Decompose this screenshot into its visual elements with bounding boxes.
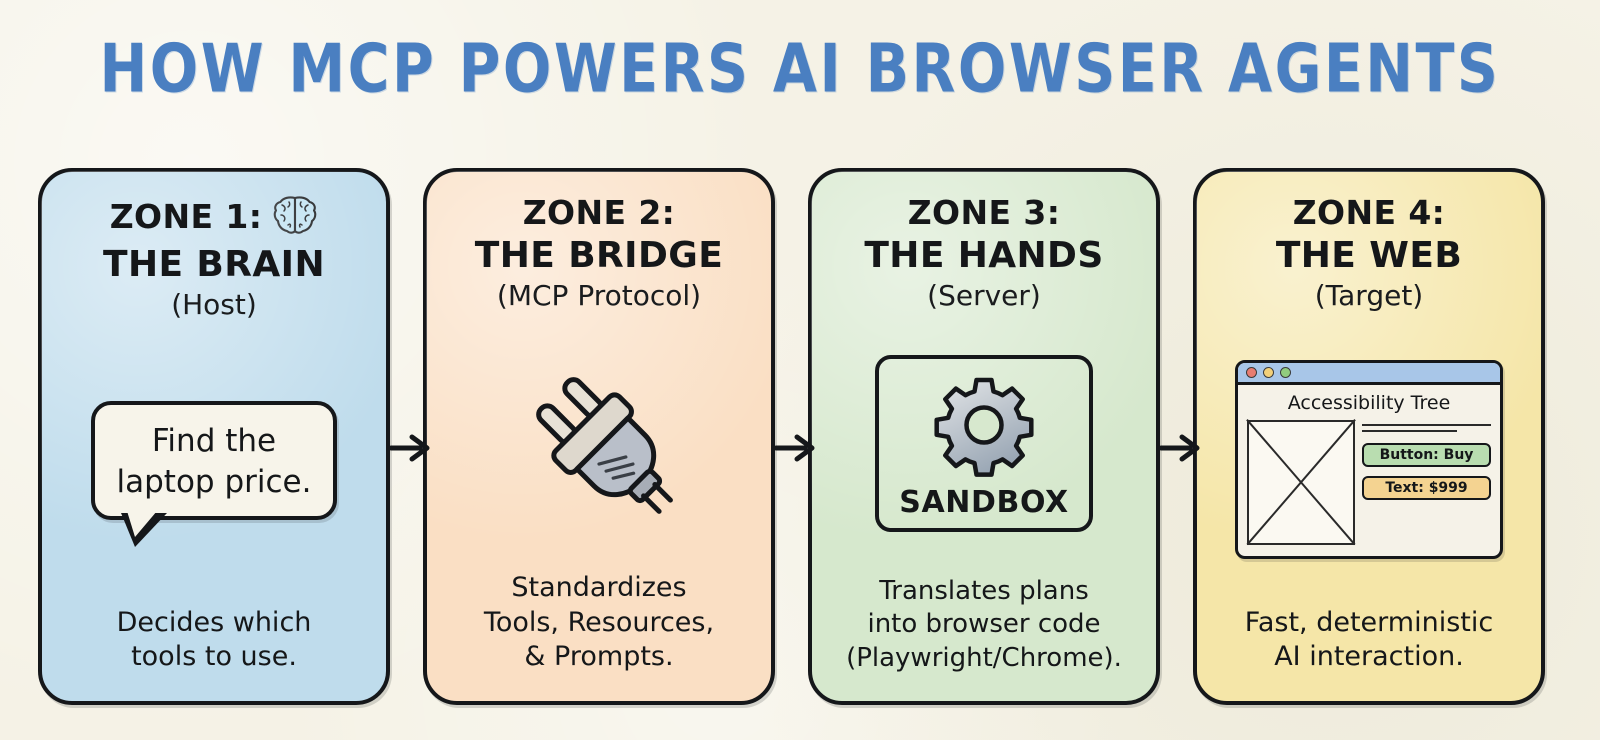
browser-content: Button: Buy Text: $999 — [1247, 420, 1491, 545]
browser-body: Accessibility Tree Button: Buy Text: $99… — [1238, 385, 1500, 556]
zone-4-head-label: ZONE 4: — [1293, 193, 1446, 232]
gear-icon — [932, 373, 1036, 481]
tree-line-2 — [1362, 430, 1457, 432]
zone-4-footer-line-2: AI interaction. — [1245, 640, 1493, 675]
zone-card-brain: ZONE 1: — [38, 168, 390, 705]
close-dot-icon[interactable] — [1246, 367, 1257, 378]
accessibility-tree-title: Accessibility Tree — [1247, 392, 1491, 414]
zone-1-head-label: ZONE 1: — [110, 197, 263, 236]
tree-annotations: Button: Buy Text: $999 — [1362, 420, 1491, 500]
zone-1-footer: Decides which tools to use. — [117, 606, 312, 687]
zone-3-heading: ZONE 3: THE HANDS — [864, 194, 1103, 277]
zone-2-footer: Standardizes Tools, Resources, & Prompts… — [484, 571, 714, 687]
zone-3-name-label: THE HANDS — [864, 235, 1103, 277]
zone-1-head-row: ZONE 1: — [110, 194, 319, 240]
tag-button-buy[interactable]: Button: Buy — [1362, 443, 1491, 467]
connector-bridge-to-hands — [775, 433, 815, 463]
bubble-line-2: laptop price. — [117, 462, 312, 502]
maximize-dot-icon[interactable] — [1280, 367, 1291, 378]
zone-3-footer-line-3: (Playwright/Chrome). — [846, 642, 1122, 675]
zone-1-name-label: THE BRAIN — [103, 244, 325, 286]
zone-2-illustration — [441, 312, 757, 571]
zone-3-subtitle: (Server) — [927, 279, 1041, 312]
minimize-dot-icon[interactable] — [1263, 367, 1274, 378]
zone-3-footer-line-2: into browser code — [846, 608, 1122, 641]
zone-4-illustration: Accessibility Tree Button: Buy Text: $99… — [1211, 312, 1527, 606]
zone-2-name-label: THE BRIDGE — [475, 235, 723, 277]
zone-1-footer-line-1: Decides which — [117, 606, 312, 641]
arrow-right-icon — [390, 433, 430, 463]
zone-2-subtitle: (MCP Protocol) — [497, 279, 701, 312]
zone-2-footer-line-3: & Prompts. — [484, 640, 714, 675]
sandbox-label: SANDBOX — [899, 485, 1068, 520]
zone-4-subtitle: (Target) — [1315, 279, 1423, 312]
brain-icon — [272, 194, 318, 240]
zone-1-heading: ZONE 1: — [110, 198, 263, 237]
zone-2-heading: ZONE 2: THE BRIDGE — [475, 194, 723, 277]
zone-1-subtitle: (Host) — [171, 288, 257, 321]
zone-4-footer-line-1: Fast, deterministic — [1245, 606, 1493, 641]
zone-2-footer-line-2: Tools, Resources, — [484, 606, 714, 641]
zone-3-footer: Translates plans into browser code (Play… — [846, 575, 1122, 687]
plug-icon — [520, 361, 678, 523]
browser-window-mock: Accessibility Tree Button: Buy Text: $99… — [1235, 360, 1503, 559]
zone-3-footer-line-1: Translates plans — [846, 575, 1122, 608]
sandbox-box: SANDBOX — [875, 355, 1092, 532]
arrow-right-icon — [775, 433, 815, 463]
tree-line-1 — [1362, 424, 1491, 426]
zone-card-hands: ZONE 3: THE HANDS (Server) — [808, 168, 1160, 705]
browser-titlebar — [1238, 363, 1500, 385]
zone-1-footer-line-2: tools to use. — [117, 640, 312, 675]
zones-board: ZONE 1: — [38, 160, 1562, 705]
image-placeholder-icon — [1247, 420, 1355, 545]
connector-hands-to-web — [1160, 433, 1200, 463]
speech-bubble-tail — [121, 513, 167, 547]
page-title: HOW MCP POWERS AI BROWSER AGENTS — [0, 30, 1600, 108]
zone-card-web: ZONE 4: THE WEB (Target) Accessibility T… — [1193, 168, 1545, 705]
zone-card-bridge: ZONE 2: THE BRIDGE (MCP Protocol) — [423, 168, 775, 705]
connector-brain-to-bridge — [390, 433, 430, 463]
zone-3-illustration: SANDBOX — [826, 312, 1142, 575]
prompt-speech-bubble: Find the laptop price. — [91, 401, 338, 520]
zone-4-heading: ZONE 4: THE WEB — [1276, 194, 1462, 277]
zone-2-footer-line-1: Standardizes — [484, 571, 714, 606]
zone-3-head-label: ZONE 3: — [908, 193, 1061, 232]
zone-4-footer: Fast, deterministic AI interaction. — [1245, 606, 1493, 687]
zone-2-head-label: ZONE 2: — [523, 193, 676, 232]
zone-1-name: THE BRAIN — [103, 242, 325, 286]
zone-4-name-label: THE WEB — [1276, 235, 1462, 277]
arrow-right-icon — [1160, 433, 1200, 463]
bubble-line-1: Find the — [117, 421, 312, 461]
zone-1-illustration: Find the laptop price. — [56, 321, 372, 605]
tag-text-price[interactable]: Text: $999 — [1362, 476, 1491, 500]
